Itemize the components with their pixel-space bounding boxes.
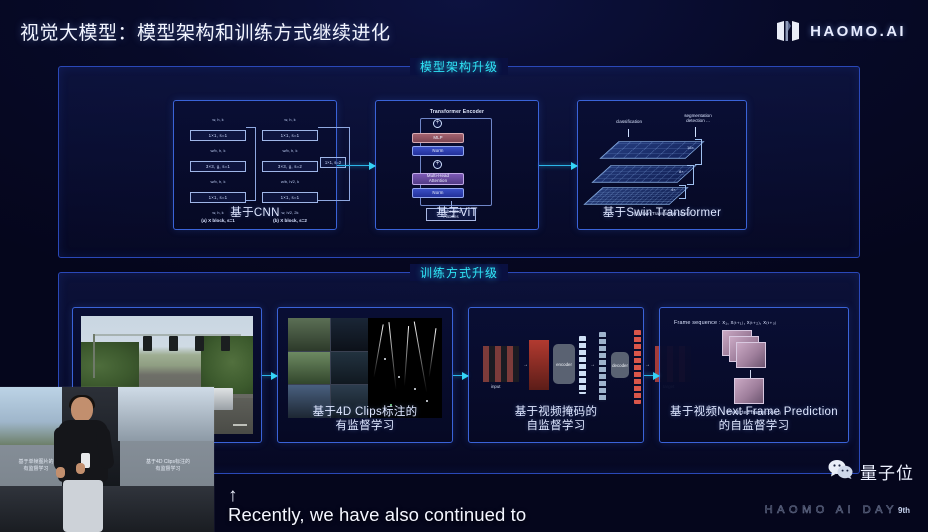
mae-input-label: input (491, 384, 501, 389)
vit-block-norm-1: Norm (412, 188, 464, 198)
card-4d-clips-caption: 基于4D Clips标注的 有监督学习 (278, 405, 452, 434)
card-vit-caption: 基于ViT (376, 206, 538, 221)
resnet-a-top-label: w, h, k (190, 117, 246, 123)
card-next-frame-caption: 基于视频Next Frame Prediction 的自监督学习 (660, 405, 848, 434)
clip-cell (288, 352, 330, 385)
pc-streak (388, 322, 396, 390)
stage-screen-image-right (118, 387, 214, 441)
mae-input-image (483, 346, 519, 382)
clip-cell (331, 318, 373, 351)
card-masked-video-caption: 基于视频掩码的 自监督学习 (469, 405, 643, 434)
traffic-gantry (93, 334, 241, 336)
resnet-a-box-1: 1×1, s=1 (190, 130, 246, 141)
card-vit[interactable]: Transformer Encoder + MLP Norm + Multi-H… (375, 100, 539, 230)
swin-tick-segmentation (695, 127, 696, 137)
card-4d-clips[interactable]: 基于4D Clips标注的 有监督学习 (277, 307, 453, 443)
pc-streak (404, 326, 409, 386)
connector-road-to-clips (262, 375, 277, 376)
resnet-a-box-3: 1×1, s=1 (190, 192, 246, 203)
vit-block-mlp: MLP (412, 133, 464, 143)
swin-label-segmentation: segmentation detection ... (669, 113, 727, 124)
section-title-architecture: 模型架构升级 (410, 58, 508, 75)
clip-cell (331, 352, 373, 385)
frame-thumb-3 (736, 342, 766, 368)
swin-plane-top (599, 141, 704, 158)
pc-streak (429, 328, 437, 378)
resnet-a-mid-label-1: w/b, h, k (190, 148, 246, 154)
swin-brace-8x (687, 165, 694, 185)
connector-cnn-to-vit (337, 165, 375, 166)
residual-sum-bottom-icon: + (433, 160, 442, 169)
haomo-m-logo-icon (775, 18, 801, 44)
qbitai-watermark: 量子位 (828, 459, 914, 484)
brand-logo: HAOMO.AI (775, 18, 906, 44)
pc-streak (414, 321, 427, 392)
card-swin-caption: 基于Swin Transformer (578, 206, 746, 221)
resnet-b-box-2: 3×3, g, s=2 (262, 161, 318, 172)
resnet-b-skip-connection (318, 127, 350, 201)
masked-autoencoder-diagram: input → encoder → decoder → target (469, 324, 643, 410)
traffic-pole (93, 334, 95, 378)
transformer-encoder-title: Transformer Encoder (402, 109, 512, 115)
clip-cell (288, 318, 330, 351)
resnet-a-box-2: 3×3, g, s=1 (190, 161, 246, 172)
vit-block-attention: Multi-Head Attention (412, 173, 464, 185)
card-next-frame-prediction[interactable]: Frame sequence : x₁, x₍ₜ₊₁₎, x₍ₜ₊₂₎, x₍ₜ… (659, 307, 849, 443)
swin-tick-classification (628, 129, 629, 137)
resnet-a-mid-label-2: w/b, h, k (190, 179, 246, 185)
pc-point (414, 388, 416, 390)
swin-scale-16x: 16× (687, 145, 694, 150)
subtitle-block: ↑ Recently, we have also continued to (228, 487, 698, 526)
swin-plane-mid (591, 165, 696, 182)
pc-point (398, 376, 400, 378)
multi-camera-clip-grid (288, 318, 372, 418)
swin-scale-4x: 4× (671, 187, 676, 192)
mae-token-sequence (599, 332, 606, 402)
card-cnn[interactable]: w, h, k 1×1, s=1 w/b, h, k 3×3, g, s=1 w… (173, 100, 337, 230)
wechat-icon (828, 459, 854, 484)
presenter-hand-right (76, 463, 85, 474)
brand-name: HAOMO.AI (810, 23, 906, 40)
slide-header: 视觉大模型：模型架构和训练方式继续进化 HAOMO.AI (0, 0, 928, 62)
card-masked-video[interactable]: input → encoder → decoder → target 基于视频掩… (468, 307, 644, 443)
event-watermark: HAOMO AI DAY9th (765, 504, 910, 516)
lane-marking (233, 424, 247, 426)
stage-caption-right: 基于4D Clips标注的 有监督学习 (128, 459, 208, 472)
resnet-b-top-label: w, h, k (262, 117, 318, 123)
qbitai-label: 量子位 (860, 459, 914, 484)
traffic-light-3 (195, 336, 204, 351)
pc-streak (373, 324, 383, 377)
mae-op-1: → (523, 362, 528, 368)
connector-masked-to-nfp (644, 375, 659, 376)
slide-canvas: 视觉大模型：模型架构和训练方式继续进化 HAOMO.AI 模型架构升级 w, h… (0, 0, 928, 532)
event-ordinal: 9th (898, 506, 910, 515)
swin-pyramid-diagram: classification segmentation detection ..… (587, 111, 737, 216)
vit-block-norm-2: Norm (412, 146, 464, 156)
page-title: 视觉大模型：模型架构和训练方式继续进化 (20, 18, 391, 45)
predicted-frame-thumb (734, 378, 764, 404)
event-name: HAOMO AI DAY (765, 504, 898, 516)
frame-sequence-label: Frame sequence : x₁, x₍ₜ₊₁₎, x₍ₜ₊₂₎, x₍ₜ… (674, 320, 834, 326)
presenter-head (71, 397, 93, 422)
section-title-training: 训练方式升级 (410, 264, 508, 281)
swin-scale-8x: 8× (679, 169, 684, 174)
subtitle-up-arrow-icon: ↑ (228, 487, 698, 504)
presenter-video-overlay[interactable]: 基于单帧图片的 有监督学习 基于4D Clips标注的 有监督学习 (0, 387, 214, 532)
presenter-arm-left (54, 427, 68, 471)
swin-brace-16x (695, 139, 702, 165)
presenter-hand-left (56, 467, 65, 478)
resnet-a-skip-connection (246, 127, 256, 201)
resnet-b-mid-label-1: w/b, h, k (262, 148, 318, 154)
mae-output-tokens (634, 330, 641, 404)
presenter-figure (54, 397, 112, 532)
residual-sum-top-icon: + (433, 119, 442, 128)
swin-brace-4x (679, 185, 686, 199)
swin-label-classification: classification (603, 119, 655, 124)
card-swin[interactable]: classification segmentation detection ..… (577, 100, 747, 230)
connector-clips-to-masked (453, 375, 468, 376)
lidar-point-cloud (368, 318, 442, 418)
connector-vit-to-swin (539, 165, 577, 166)
mae-encoder-block: encoder (553, 344, 575, 384)
mae-masked-patches (529, 340, 549, 390)
traffic-light-4 (221, 336, 230, 351)
transformer-encoder-diagram: Transformer Encoder + MLP Norm + Multi-H… (402, 109, 512, 221)
resnet-b-box-3: 1×1, s=1 (262, 192, 318, 203)
subtitle-text: Recently, we have also continued to (228, 504, 698, 526)
card-cnn-caption: 基于CNN (174, 206, 336, 221)
resnet-b-mid-label-2: w/b, h/2, k (262, 179, 318, 185)
pc-point (384, 358, 386, 360)
mae-op-3: → (645, 362, 650, 368)
mae-latent-tokens (579, 336, 586, 394)
presenter-legs (63, 480, 103, 532)
mae-decoder-block: decoder (611, 352, 629, 378)
traffic-light-1 (143, 336, 152, 351)
pc-point (426, 400, 428, 402)
traffic-light-2 (169, 336, 178, 351)
mae-op-2: → (590, 362, 595, 368)
resnet-block-diagram: w, h, k 1×1, s=1 w/b, h, k 3×3, g, s=1 w… (190, 113, 320, 213)
resnet-b-box-1: 1×1, s=1 (262, 130, 318, 141)
tree-line-left (81, 342, 139, 390)
section-model-architecture: 模型架构升级 w, h, k 1×1, s=1 w/b, h, k 3×3, g… (58, 66, 860, 258)
